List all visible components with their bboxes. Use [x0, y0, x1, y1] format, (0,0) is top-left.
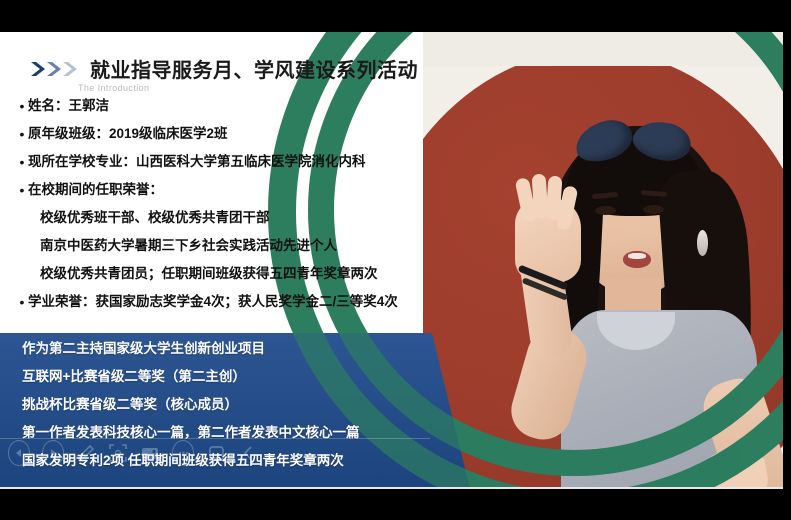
video-player-stage: 就业指导服务月、学风建设系列活动 The Introduction • 姓名：王…	[0, 0, 791, 520]
list-item-label: 原年级班级：2019级临床医学2班	[28, 124, 228, 144]
slide-text-content: 就业指导服务月、学风建设系列活动 The Introduction • 姓名：王…	[0, 32, 470, 489]
highlight-line: 作为第二主持国家级大学生创新创业项目	[22, 339, 470, 359]
crop-select-icon[interactable]	[108, 441, 128, 465]
letterbox-top	[0, 0, 791, 32]
player-control-toolbar[interactable]	[8, 436, 258, 470]
page-title: 就业指导服务月、学风建设系列活动	[90, 54, 418, 83]
list-item: • 原年级班级：2019级临床医学2班	[16, 124, 468, 144]
bullet-dot: •	[16, 96, 28, 116]
highlight-line: 互联网+比赛省级二等奖（第二主创）	[22, 367, 470, 387]
letterbox-bottom	[0, 489, 791, 520]
bullet-dot: •	[16, 292, 28, 312]
comment-icon[interactable]	[172, 440, 194, 466]
highlight-line: 挑战杯比赛省级二等奖（核心成员）	[22, 395, 470, 415]
list-item-label: 在校期间的任职荣誉：	[28, 180, 163, 200]
letterbox-right	[783, 0, 791, 520]
play-icon[interactable]	[42, 440, 64, 466]
bullet-dot: •	[16, 152, 28, 172]
list-item-label: 学业荣誉：获国家励志奖学金4次；获人民奖学金二/三等奖4次	[28, 292, 398, 312]
sub-list-item: 校级优秀班干部、校级优秀共青团干部	[40, 208, 468, 228]
chevron-left-icon[interactable]	[238, 441, 258, 465]
screenshot-icon[interactable]	[140, 441, 160, 465]
list-item-label: 现所在学校专业：山西医科大学第五临床医学院消化内科	[28, 152, 366, 172]
list-item: • 学业荣誉：获国家励志奖学金4次；获人民奖学金二/三等奖4次	[16, 292, 468, 312]
slide-subtitle: The Introduction	[78, 83, 149, 93]
list-item: • 现所在学校专业：山西医科大学第五临床医学院消化内科	[16, 152, 468, 172]
bullet-dot: •	[16, 124, 28, 144]
list-item-label: 姓名：王郭洁	[28, 96, 109, 116]
bullet-dot: •	[16, 180, 28, 200]
sub-list-item: 南京中医药大学暑期三下乡社会实践活动先进个人	[40, 236, 468, 256]
previous-icon[interactable]	[8, 440, 30, 466]
list-item: • 姓名：王郭洁	[16, 96, 468, 116]
pen-icon[interactable]	[76, 441, 96, 465]
note-icon[interactable]	[206, 441, 226, 465]
bullet-list: • 姓名：王郭洁 • 原年级班级：2019级临床医学2班 • 现所在学校专业：山…	[16, 96, 468, 320]
slide-title-row: 就业指导服务月、学风建设系列活动	[30, 54, 418, 83]
presentation-slide: 就业指导服务月、学风建设系列活动 The Introduction • 姓名：王…	[0, 32, 783, 489]
list-item: • 在校期间的任职荣誉：	[16, 180, 468, 200]
triple-chevron-right-icon	[30, 60, 82, 78]
sub-list-item: 校级优秀共青团员；任职期间班级获得五四青年奖章两次	[40, 264, 468, 284]
